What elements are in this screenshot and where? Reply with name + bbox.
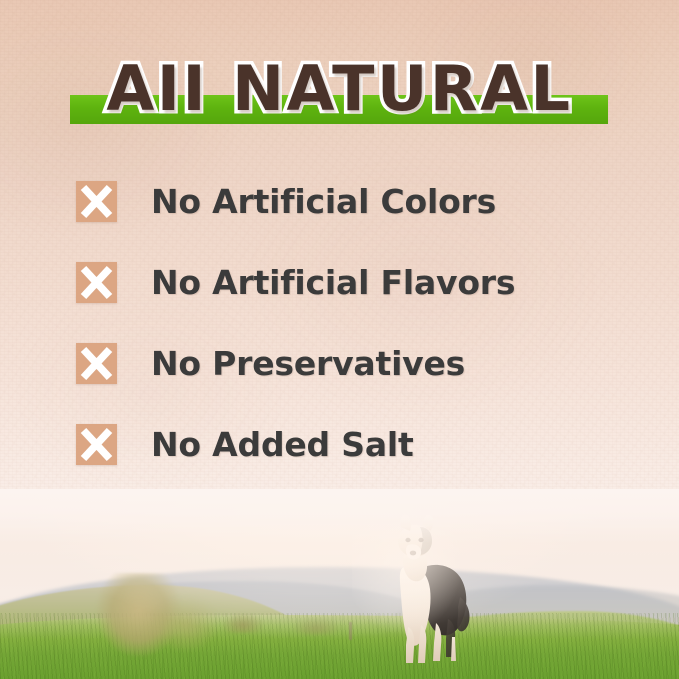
x-mark-icon — [76, 343, 117, 384]
x-mark-icon — [76, 262, 117, 303]
bush — [150, 595, 220, 653]
list-item: No Artificial Colors — [76, 181, 636, 222]
list-item: No Artificial Flavors — [76, 262, 636, 303]
border-collie-dog — [368, 511, 478, 669]
claim-label: No Added Salt — [151, 424, 414, 465]
x-mark-icon — [76, 424, 117, 465]
shrub — [222, 613, 264, 633]
page-title: AII NATURAL — [0, 46, 679, 132]
headline-block: AII NATURAL — [0, 46, 679, 132]
all-natural-product-poster: AII NATURAL No Artificial Colors — [0, 0, 679, 679]
claim-label: No Artificial Flavors — [151, 262, 515, 303]
shrub — [292, 617, 340, 635]
fence-post — [349, 622, 352, 640]
claims-list: No Artificial Colors No Artificial Flavo… — [76, 181, 636, 465]
claim-label: No Preservatives — [151, 343, 465, 384]
list-item: No Added Salt — [76, 424, 636, 465]
x-mark-icon — [76, 181, 117, 222]
list-item: No Preservatives — [76, 343, 636, 384]
claim-label: No Artificial Colors — [151, 181, 496, 222]
border-collie-in-meadow-photo — [0, 489, 679, 679]
